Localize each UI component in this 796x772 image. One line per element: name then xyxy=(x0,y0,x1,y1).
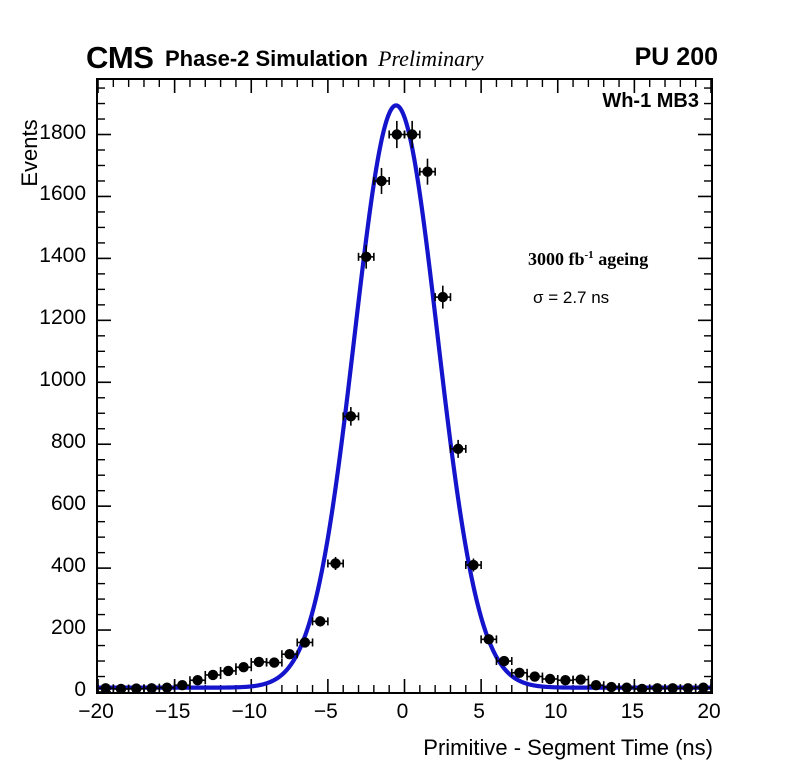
data-point xyxy=(696,682,711,692)
y-tick-label: 400 xyxy=(2,554,86,578)
data-point xyxy=(542,674,557,684)
data-point xyxy=(558,675,573,685)
x-tick-label: −20 xyxy=(78,700,114,724)
y-tick-label: 200 xyxy=(2,616,86,640)
x-tick-label: 5 xyxy=(473,700,485,724)
plot-canvas: CMS Phase-2 Simulation Preliminary PU 20… xyxy=(0,0,796,772)
data-point xyxy=(328,557,343,570)
data-point xyxy=(604,682,619,692)
data-point xyxy=(251,657,266,667)
y-tick-label: 0 xyxy=(2,678,86,702)
data-point xyxy=(650,683,665,692)
cms-logo-text: CMS xyxy=(86,42,153,73)
x-tick-label: 0 xyxy=(397,700,409,724)
data-point xyxy=(619,682,634,692)
data-point xyxy=(159,682,174,692)
data-point xyxy=(98,683,113,692)
plot-graphics xyxy=(98,80,711,692)
data-point xyxy=(435,286,450,309)
x-tick-label: −5 xyxy=(314,700,338,724)
data-point xyxy=(144,683,159,692)
data-point xyxy=(190,675,205,685)
y-tick-label: 1800 xyxy=(2,121,86,145)
data-point xyxy=(267,657,282,667)
y-tick-label: 600 xyxy=(2,492,86,516)
y-tick-label: 1200 xyxy=(2,306,86,330)
data-point xyxy=(236,662,251,672)
data-point xyxy=(573,674,588,684)
pileup-label: PU 200 xyxy=(635,44,718,70)
data-point xyxy=(481,634,496,644)
x-tick-label: −10 xyxy=(231,700,267,724)
preliminary-label: Preliminary xyxy=(378,47,484,71)
data-point xyxy=(527,671,542,681)
simulation-label: Phase-2 Simulation xyxy=(165,47,368,71)
sigma-label: σ = 2.7 ns xyxy=(533,288,609,307)
data-point xyxy=(221,666,236,676)
data-point xyxy=(205,670,220,680)
x-tick-label: 10 xyxy=(544,700,567,724)
data-point xyxy=(313,616,328,626)
data-point xyxy=(665,683,680,692)
data-point xyxy=(359,245,374,269)
data-points-group xyxy=(98,121,711,692)
y-tick-label: 1400 xyxy=(2,244,86,268)
data-point xyxy=(420,159,435,185)
plot-header: CMS Phase-2 Simulation Preliminary PU 20… xyxy=(0,42,796,72)
data-point xyxy=(680,683,695,692)
ageing-suffix: ageing xyxy=(594,249,649,269)
chamber-label: Wh-1 MB3 xyxy=(602,90,699,112)
ageing-exponent: -1 xyxy=(585,249,594,261)
x-tick-label: 15 xyxy=(621,700,644,724)
x-tick-label: −15 xyxy=(155,700,191,724)
gaussian-fit-curve xyxy=(98,105,711,687)
x-tick-label: 20 xyxy=(697,700,720,724)
y-tick-label: 1000 xyxy=(2,368,86,392)
x-axis-title: Primitive - Segment Time (ns) xyxy=(0,735,796,761)
data-point xyxy=(389,121,404,148)
y-tick-label: 1600 xyxy=(2,182,86,206)
ageing-value: 3000 fb xyxy=(528,249,585,269)
y-tick-label: 800 xyxy=(2,430,86,454)
ageing-label: 3000 fb-1 ageing xyxy=(528,245,648,269)
plot-frame: Wh-1 MB3 3000 fb-1 ageing σ = 2.7 ns xyxy=(96,78,713,694)
